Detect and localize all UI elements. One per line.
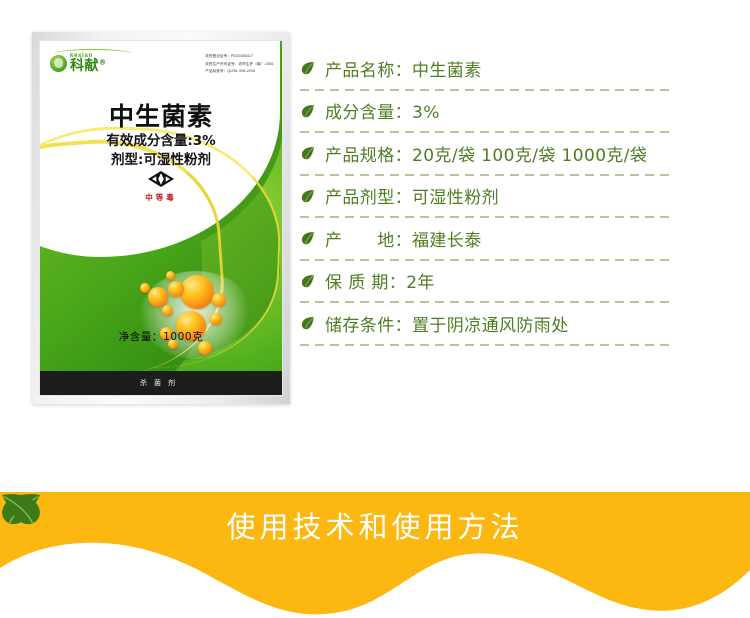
product-spec-list: 产品名称：中生菌素 成分含量：3% 产品规格：20克/袋 100克/袋 1000… <box>300 48 674 346</box>
spec-value: 3% <box>412 103 440 123</box>
leaf-bullet-icon <box>300 273 316 289</box>
package-fine-print: 农药登记证号：PD20180317 农药生产许可证号：农药生许（闽）-0001 … <box>205 53 274 76</box>
package-active-ingredient: 有效成分含量:3% <box>40 129 282 149</box>
spec-value: 可湿性粉剂 <box>412 188 499 208</box>
spec-value: 2年 <box>406 273 435 293</box>
spec-label-value: 产品规格：20克/袋 100克/袋 1000克/袋 <box>325 141 647 166</box>
spec-row-origin: 产 地：福建长泰 <box>300 218 674 259</box>
spec-row-product-formulation: 产品剂型：可湿性粉剂 <box>300 176 674 217</box>
product-detail-page: kexian 科献® 农药登记证号：PD20180317 农药生产许可证号：农药… <box>0 0 750 618</box>
registered-mark: ® <box>99 58 107 66</box>
sphere <box>148 287 168 307</box>
leaf-bullet-icon <box>300 103 316 119</box>
brand-name-cn: 科献® <box>70 59 107 73</box>
toxicity-diamond-icon <box>40 171 282 192</box>
spec-label-value: 产品剂型：可湿性粉剂 <box>325 183 499 208</box>
fine-print-line: 产品标准号：Q/ZSL 095-2016 <box>205 68 274 76</box>
package-sphere-cluster <box>136 269 256 361</box>
leaf-bullet-icon <box>300 60 316 76</box>
spec-label: 成分含量： <box>325 103 412 123</box>
spec-label-value: 产 地：福建长泰 <box>325 226 482 251</box>
brand-name-cn-text: 科献 <box>70 58 99 74</box>
spec-label: 产品剂型： <box>325 188 412 208</box>
package-category-bar: 杀菌剂 <box>40 371 282 395</box>
spec-row-ingredient-content: 成分含量：3% <box>300 91 674 132</box>
spec-label-value: 成分含量：3% <box>325 98 440 123</box>
spec-label: 储存条件： <box>325 316 412 336</box>
sphere <box>166 271 175 280</box>
brand-logo: kexian 科献® <box>50 53 107 73</box>
spec-value: 福建长泰 <box>412 231 482 251</box>
spec-label: 产品名称： <box>325 61 412 81</box>
package-net-content: 净含量：1000克 <box>40 329 282 344</box>
package-formulation: 剂型:可湿性粉剂 <box>40 148 282 168</box>
spec-row-storage-conditions: 储存条件：置于阴凉通风防雨处 <box>300 303 674 344</box>
fine-print-line: 农药登记证号：PD20180317 <box>205 53 274 61</box>
leaf-bullet-icon <box>300 315 316 331</box>
sphere <box>168 281 184 297</box>
sphere <box>180 275 214 309</box>
sphere <box>140 283 150 293</box>
product-package-image: kexian 科献® 农药登记证号：PD20180317 农药生产许可证号：农药… <box>32 32 290 404</box>
sphere <box>212 293 226 307</box>
package-category-label: 杀菌剂 <box>140 378 182 388</box>
leaf-bullet-icon <box>300 188 316 204</box>
banner-title: 使用技术和使用方法 <box>226 504 523 546</box>
usage-banner: 使用技术和使用方法 <box>0 492 750 618</box>
package-front: kexian 科献® 农药登记证号：PD20180317 农药生产许可证号：农药… <box>39 40 283 396</box>
spec-label-value: 产品名称：中生菌素 <box>325 56 482 81</box>
spec-label: 产 地： <box>325 231 412 251</box>
sphere <box>162 305 173 316</box>
sphere <box>210 313 222 325</box>
leaf-bullet-icon <box>300 145 316 161</box>
spec-row-product-specification: 产品规格：20克/袋 100克/袋 1000克/袋 <box>300 133 674 174</box>
spec-label: 保 质 期： <box>325 273 406 293</box>
spec-value: 20克/袋 100克/袋 1000克/袋 <box>412 146 647 166</box>
package-toxicity-label: 中等毒 <box>40 192 282 203</box>
package-product-title: 中生菌素 <box>40 97 282 133</box>
spec-value: 中生菌素 <box>412 61 482 81</box>
spec-label: 产品规格： <box>325 146 412 166</box>
spec-divider <box>300 344 674 346</box>
spec-label-value: 保 质 期：2年 <box>325 268 435 293</box>
spec-value: 置于阴凉通风防雨处 <box>412 316 569 336</box>
spec-row-shelf-life: 保 质 期：2年 <box>300 261 674 302</box>
leaf-bullet-icon <box>300 230 316 246</box>
banner-content: 使用技术和使用方法 <box>0 492 750 558</box>
brand-emblem-icon <box>50 55 67 72</box>
fine-print-line: 农药生产许可证号：农药生许（闽）-0001 <box>205 61 274 69</box>
spec-label-value: 储存条件：置于阴凉通风防雨处 <box>325 311 569 336</box>
spec-row-product-name: 产品名称：中生菌素 <box>300 48 674 89</box>
